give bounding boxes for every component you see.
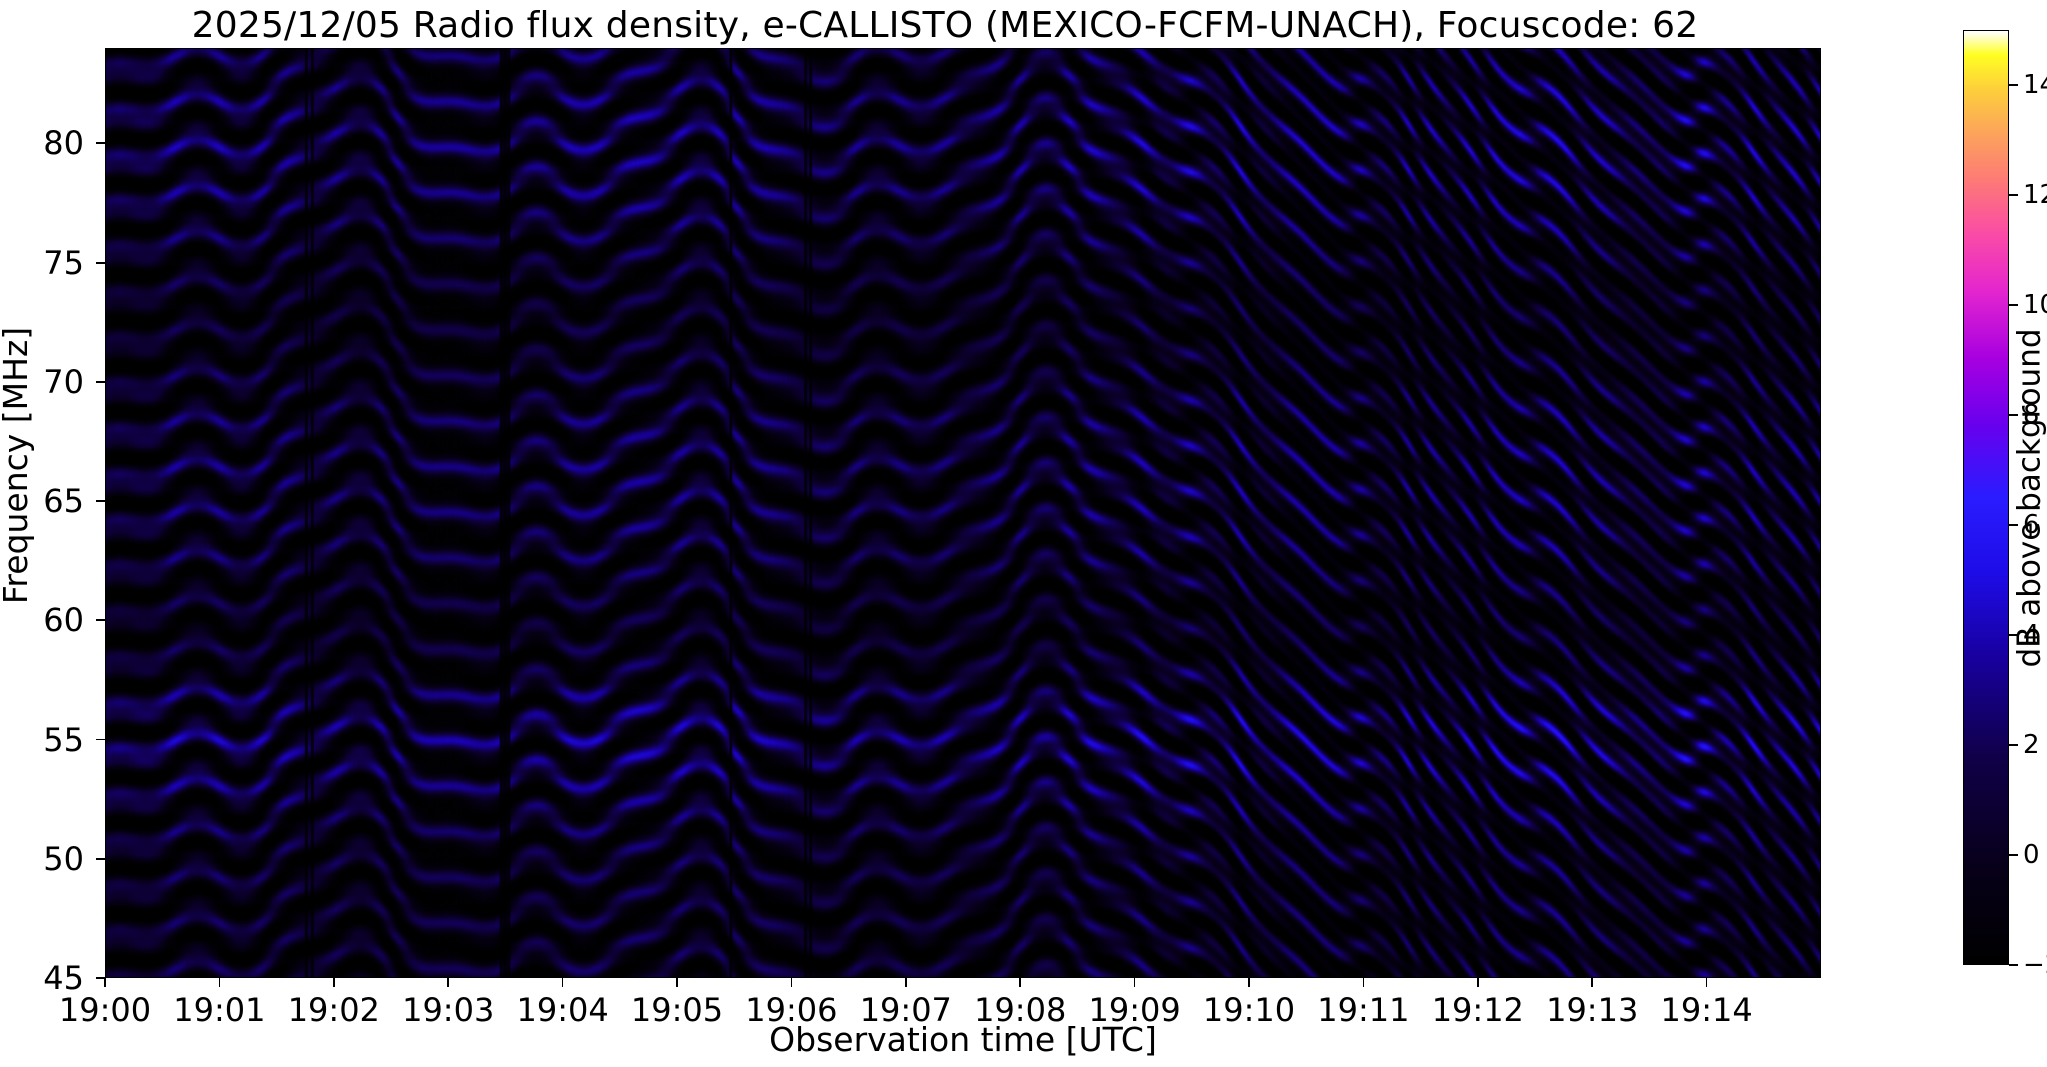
- x-axis-tick: [1248, 978, 1250, 987]
- y-axis-tick: [96, 262, 105, 264]
- x-axis-tick: [562, 978, 564, 987]
- colorbar-tick: [2009, 84, 2018, 86]
- colorbar-tick-label: 2: [2023, 732, 2040, 758]
- x-axis-tick-label: 19:14: [1627, 994, 1787, 1026]
- x-axis-tick: [676, 978, 678, 987]
- colorbar-tick-label: 8: [2023, 402, 2040, 428]
- colorbar-tick: [2009, 524, 2018, 526]
- y-axis-tick-label: 50: [6, 843, 84, 875]
- colorbar-tick-label: 12: [2023, 182, 2047, 208]
- x-axis-tick: [104, 978, 106, 987]
- y-axis-tick-label: 55: [6, 724, 84, 756]
- x-axis-tick: [791, 978, 793, 987]
- spectrogram-axes: [105, 48, 1821, 978]
- colorbar-tick: [2009, 744, 2018, 746]
- colorbar-gradient: [1964, 31, 2008, 964]
- y-axis-tick: [96, 381, 105, 383]
- colorbar: [1963, 30, 2009, 965]
- x-axis-tick: [333, 978, 335, 987]
- x-axis-tick: [1477, 978, 1479, 987]
- y-axis-tick-label: 45: [6, 962, 84, 994]
- y-axis-tick: [96, 739, 105, 741]
- colorbar-tick-label: 14: [2023, 72, 2047, 98]
- x-axis-tick: [1134, 978, 1136, 987]
- y-axis-tick-label: 60: [6, 604, 84, 636]
- colorbar-tick: [2009, 854, 2018, 856]
- y-axis-tick-label: 80: [6, 127, 84, 159]
- colorbar-tick: [2009, 634, 2018, 636]
- colorbar-tick: [2009, 414, 2018, 416]
- x-axis-tick: [1591, 978, 1593, 987]
- colorbar-label: dB above background: [2009, 30, 2047, 965]
- colorbar-label-text: dB above background: [2012, 328, 2047, 667]
- x-axis-tick: [905, 978, 907, 987]
- x-axis-tick: [1363, 978, 1365, 987]
- colorbar-tick-label: 6: [2023, 512, 2040, 538]
- colorbar-tick: [2009, 964, 2018, 966]
- colorbar-tick: [2009, 194, 2018, 196]
- colorbar-tick-label: 4: [2023, 622, 2040, 648]
- spectrogram-image: [106, 49, 1820, 977]
- y-axis-tick: [96, 619, 105, 621]
- y-axis-tick: [96, 142, 105, 144]
- y-axis-tick: [96, 858, 105, 860]
- colorbar-tick: [2009, 304, 2018, 306]
- x-axis-tick: [447, 978, 449, 987]
- x-axis-tick: [1019, 978, 1021, 987]
- colorbar-tick-label: −2: [2023, 952, 2047, 978]
- y-axis-tick-label: 70: [6, 366, 84, 398]
- x-axis-tick: [219, 978, 221, 987]
- x-axis-tick: [1706, 978, 1708, 987]
- figure-root: 2025/12/05 Radio flux density, e-CALLIST…: [0, 0, 2047, 1067]
- colorbar-tick-label: 0: [2023, 842, 2040, 868]
- y-axis-tick-label: 65: [6, 485, 84, 517]
- y-axis-tick-label: 75: [6, 247, 84, 279]
- colorbar-tick-label: 10: [2023, 292, 2047, 318]
- page-title: 2025/12/05 Radio flux density, e-CALLIST…: [0, 6, 1890, 46]
- y-axis-tick: [96, 500, 105, 502]
